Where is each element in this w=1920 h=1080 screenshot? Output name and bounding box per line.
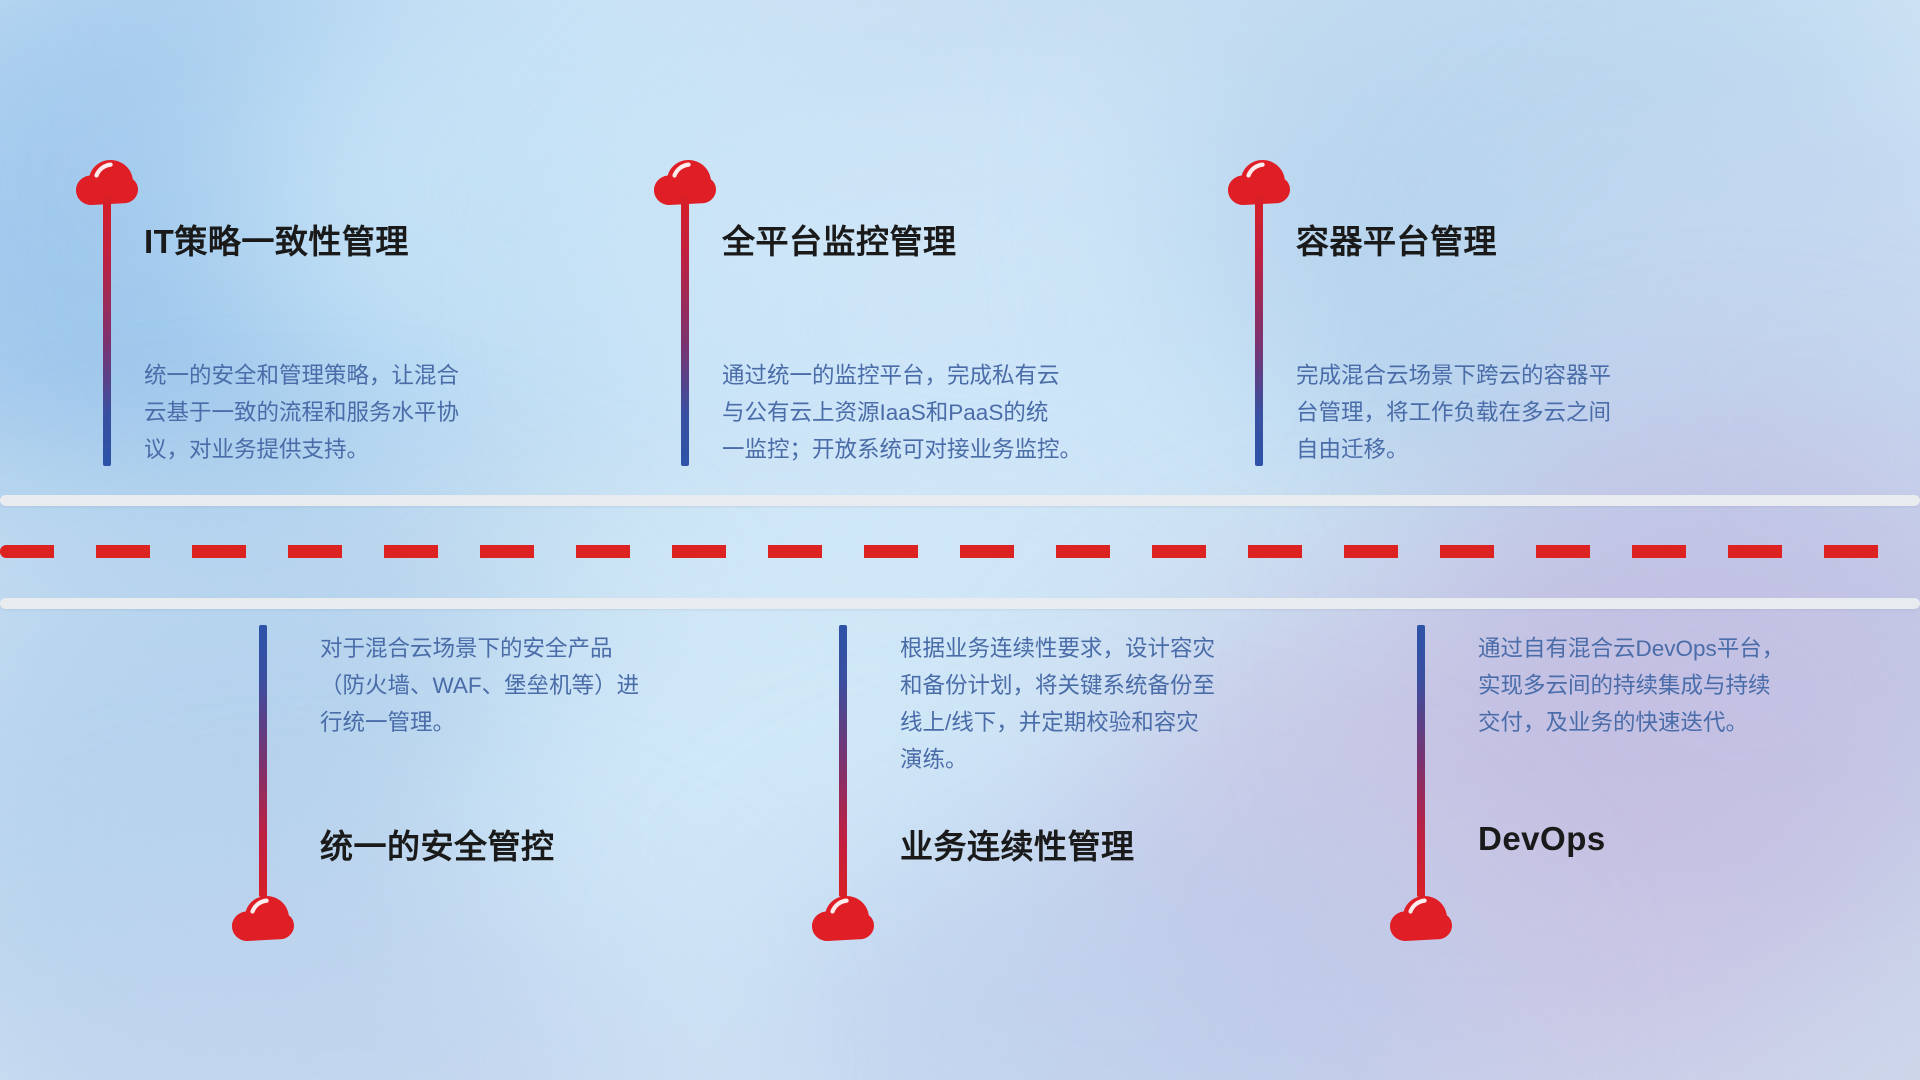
description-line: 和备份计划，将关键系统备份至 — [900, 667, 1330, 704]
milestone-description: 完成混合云场景下跨云的容器平 台管理，将工作负载在多云之间 自由迁移。 — [1296, 357, 1726, 468]
milestone-title: 统一的安全管控 — [320, 820, 555, 868]
description-line: 与公有云上资源IaaS和PaaS的统 — [722, 394, 1152, 431]
milestone-description: 统一的安全和管理策略，让混合 云基于一致的流程和服务水平协 议，对业务提供支持。 — [144, 357, 574, 468]
description-line: 一监控；开放系统可对接业务监控。 — [722, 431, 1152, 468]
description-line: 完成混合云场景下跨云的容器平 — [1296, 357, 1726, 394]
milestone-title: 全平台监控管理 — [722, 215, 957, 263]
description-line: 根据业务连续性要求，设计容灾 — [900, 630, 1330, 667]
milestone-stem — [103, 196, 111, 466]
description-line: 议，对业务提供支持。 — [144, 431, 574, 468]
road-edge-line-bottom — [0, 598, 1920, 609]
milestone-description: 根据业务连续性要求，设计容灾 和备份计划，将关键系统备份至 线上/线下，并定期校… — [900, 630, 1330, 778]
description-line: 交付，及业务的快速迭代。 — [1478, 704, 1908, 741]
milestone-title: 容器平台管理 — [1296, 215, 1497, 263]
milestone-title: IT策略一致性管理 — [144, 215, 409, 263]
description-line: 通过自有混合云DevOps平台， — [1478, 630, 1908, 667]
description-line: 云基于一致的流程和服务水平协 — [144, 394, 574, 431]
milestone-stem — [839, 625, 847, 897]
milestone-description: 对于混合云场景下的安全产品 （防火墙、WAF、堡垒机等）进 行统一管理。 — [320, 630, 750, 741]
description-line: 行统一管理。 — [320, 704, 750, 741]
description-line: 对于混合云场景下的安全产品 — [320, 630, 750, 667]
milestone-description: 通过统一的监控平台，完成私有云 与公有云上资源IaaS和PaaS的统 一监控；开… — [722, 357, 1152, 468]
milestone-stem — [1255, 196, 1263, 466]
milestone-description: 通过自有混合云DevOps平台， 实现多云间的持续集成与持续 交付，及业务的快速… — [1478, 630, 1908, 741]
road-edge-line-top — [0, 495, 1920, 506]
description-line: （防火墙、WAF、堡垒机等）进 — [320, 667, 750, 704]
description-line: 演练。 — [900, 741, 1330, 778]
milestone-title: DevOps — [1478, 820, 1606, 858]
description-line: 线上/线下，并定期校验和容灾 — [900, 704, 1330, 741]
description-line: 统一的安全和管理策略，让混合 — [144, 357, 574, 394]
milestone-stem — [259, 625, 267, 897]
milestone-stem — [1417, 625, 1425, 897]
road-center-dashed-line — [0, 545, 1920, 558]
infographic-canvas: IT策略一致性管理 统一的安全和管理策略，让混合 云基于一致的流程和服务水平协 … — [0, 0, 1920, 1080]
description-line: 台管理，将工作负载在多云之间 — [1296, 394, 1726, 431]
description-line: 自由迁移。 — [1296, 431, 1726, 468]
milestone-stem — [681, 196, 689, 466]
description-line: 通过统一的监控平台，完成私有云 — [722, 357, 1152, 394]
milestone-title: 业务连续性管理 — [900, 820, 1135, 868]
description-line: 实现多云间的持续集成与持续 — [1478, 667, 1908, 704]
